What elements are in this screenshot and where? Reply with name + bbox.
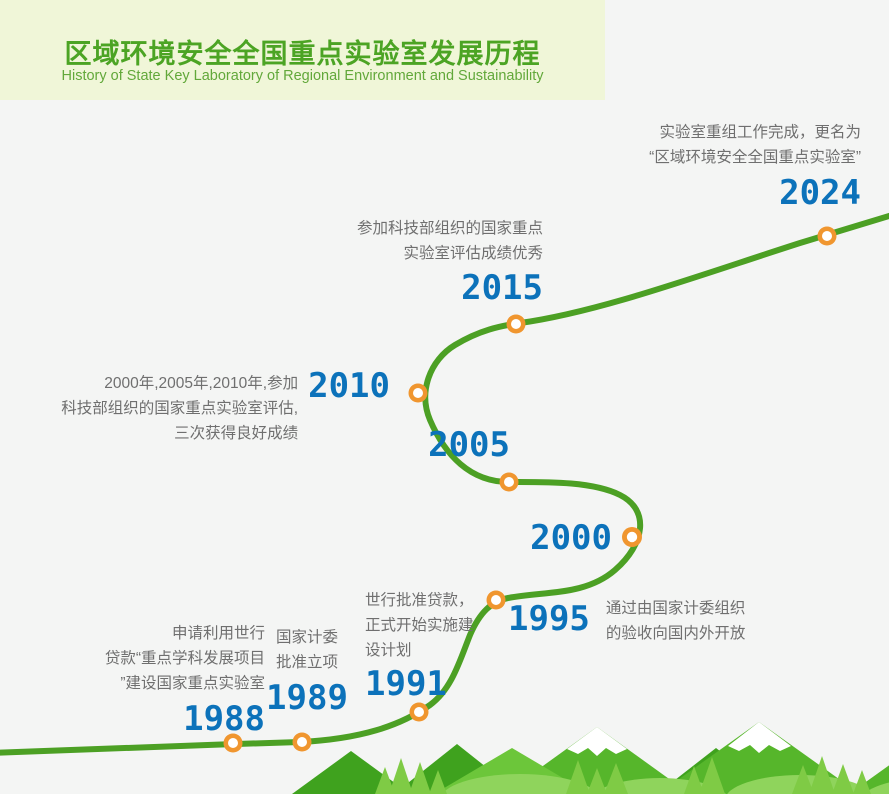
event-2005: 2005 [400,428,510,462]
event-2000: 2000 [500,521,612,555]
event-2010: 2000年,2005年,2010年,参加 科技部组织的国家重点实验室评估, 三次… [40,371,390,446]
event-1991-description: 世行批准贷款， 正式开始实施建 设计划 [365,588,490,663]
event-2000-year: 2000 [500,521,612,555]
event-1995-year: 1995 [508,602,590,636]
snow-cap-icon [567,727,627,756]
event-1995-description: 通过由国家计委组织 的验收向国内外开放 [606,596,746,646]
event-1989: 国家计委 批准立项 1989 [262,625,352,715]
marker-2010[interactable] [409,384,428,403]
event-2024: 实验室重组工作完成，更名为 “区域环境安全全国重点实验室” 2024 [549,120,861,210]
event-1988: 申请利用世行 贷款“重点学科发展项目 ”建设国家重点实验室 1988 [40,621,265,736]
marker-2024[interactable] [818,227,837,246]
event-1988-description: 申请利用世行 贷款“重点学科发展项目 ”建设国家重点实验室 [40,621,265,696]
event-2005-year: 2005 [400,428,510,462]
event-1991: 世行批准贷款， 正式开始实施建 设计划 1991 [365,588,490,701]
mountain-scenery [292,722,889,794]
event-1989-description: 国家计委 批准立项 [262,625,352,675]
event-1991-year: 1991 [365,667,490,701]
event-1989-year: 1989 [262,681,352,715]
marker-1991[interactable] [410,703,429,722]
event-2015-description: 参加科技部组织的国家重点 实验室评估成绩优秀 [250,216,543,266]
event-1988-year: 1988 [40,702,265,736]
timeline-infographic: 区域环境安全全国重点实验室发展历程 History of State Key L… [0,0,889,794]
marker-2005[interactable] [500,473,519,492]
event-1995: 1995 通过由国家计委组织 的验收向国内外开放 [508,596,808,646]
marker-2015[interactable] [507,315,526,334]
event-2010-description: 2000年,2005年,2010年,参加 科技部组织的国家重点实验室评估, 三次… [33,371,298,446]
event-2015-year: 2015 [250,271,543,305]
event-2024-description: 实验室重组工作完成，更名为 “区域环境安全全国重点实验室” [549,120,861,170]
marker-2000[interactable] [622,527,642,547]
event-2010-year: 2010 [308,369,390,403]
marker-1989[interactable] [293,733,312,752]
event-2024-year: 2024 [549,176,861,210]
event-2015: 参加科技部组织的国家重点 实验室评估成绩优秀 2015 [250,216,543,305]
